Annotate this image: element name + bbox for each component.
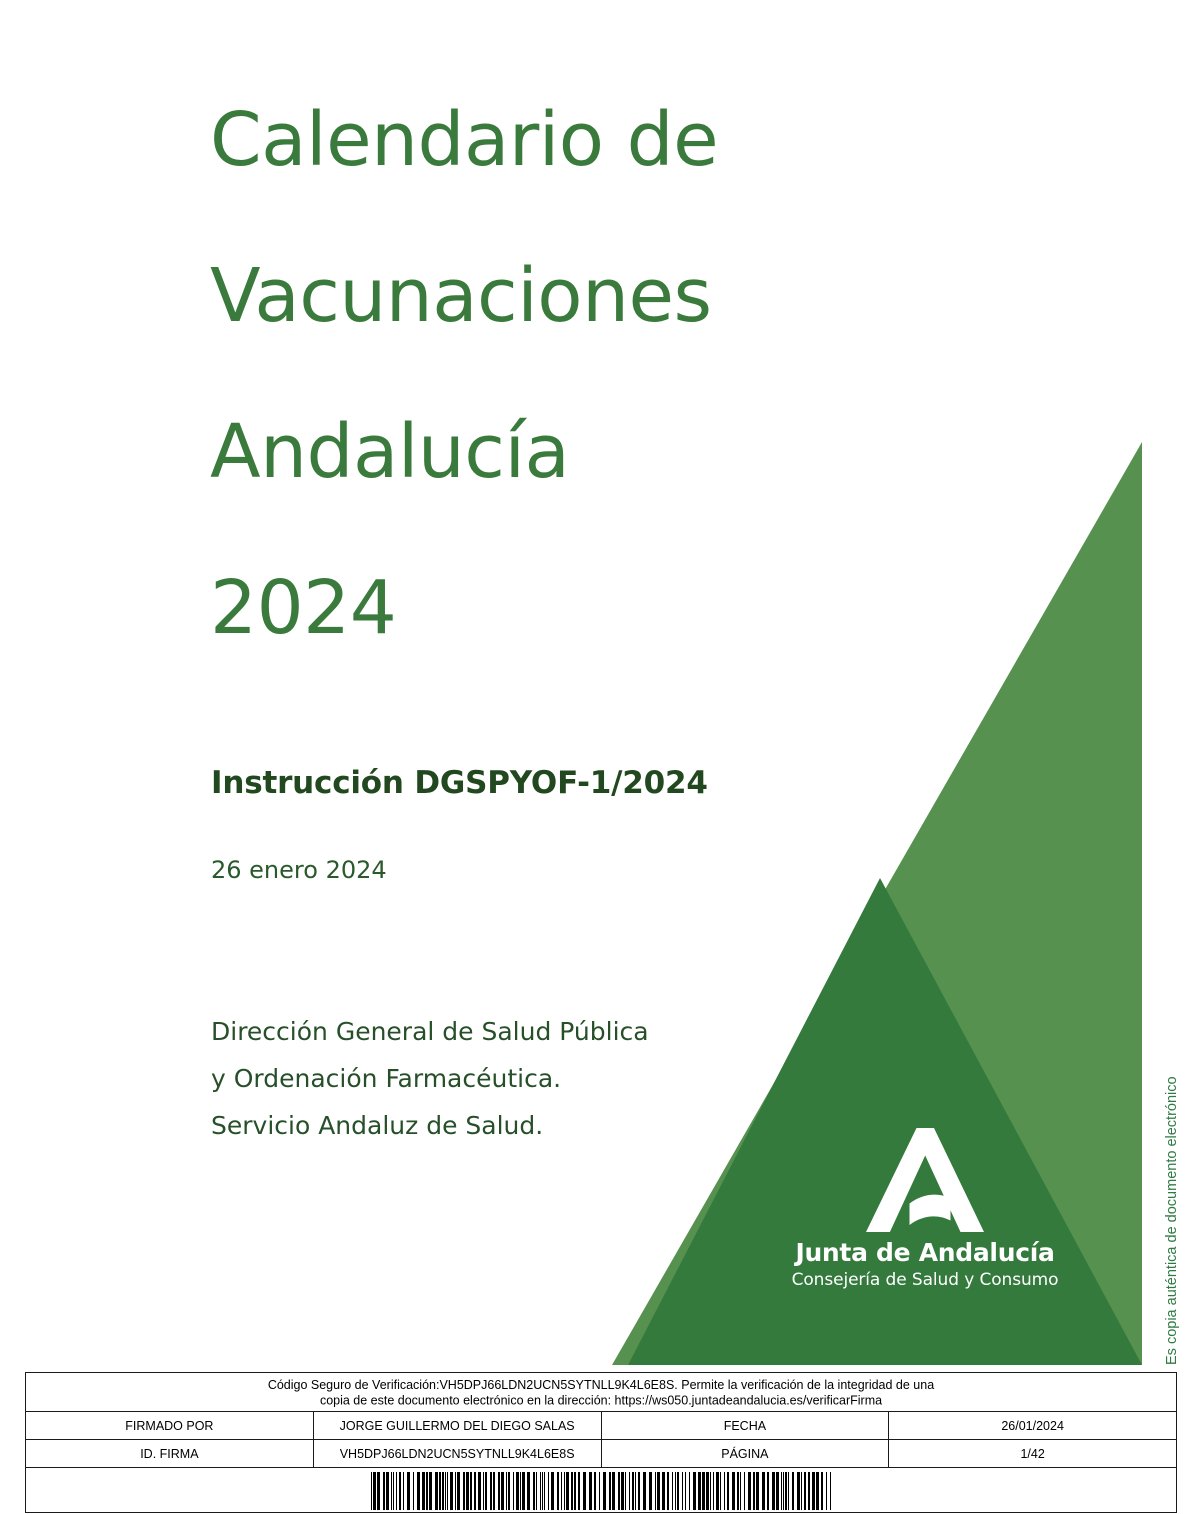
document-page: Calendario de Vacunaciones Andalucía 202…	[0, 0, 1202, 1514]
signature-id-value: VH5DPJ66LDN2UCN5SYTNLL9K4L6E8S	[313, 1439, 601, 1469]
csv-cell: Código Seguro de Verificación:VH5DPJ66LD…	[26, 1371, 1177, 1412]
brand-name: Junta de Andalucía	[780, 1238, 1070, 1268]
signed-by-label: FIRMADO POR	[26, 1411, 314, 1441]
table-row-csv: Código Seguro de Verificación:VH5DPJ66LD…	[26, 1373, 1177, 1412]
barcode-cell	[26, 1466, 1177, 1514]
title-line-4: 2024	[210, 530, 850, 686]
cover-title: Calendario de Vacunaciones Andalucía 202…	[210, 62, 850, 686]
brand-department: Consejería de Salud y Consumo	[780, 1268, 1070, 1292]
table-row-signature-id: ID. FIRMA VH5DPJ66LDN2UCN5SYTNLL9K4L6E8S…	[26, 1440, 1177, 1468]
title-line-1: Calendario de	[210, 62, 850, 218]
title-line-3: Andalucía	[210, 374, 850, 530]
page-value: 1/42	[889, 1439, 1177, 1469]
table-row-barcode	[26, 1468, 1177, 1513]
csv-line-1: Código Seguro de Verificación:VH5DPJ66LD…	[268, 1376, 934, 1391]
electronic-copy-stamp: Es copia auténtica de documento electrón…	[1161, 1035, 1185, 1365]
page-label: PÁGINA	[601, 1439, 889, 1469]
issuer-line-2: y Ordenación Farmacéutica.	[211, 1055, 771, 1102]
verification-footer-table: Código Seguro de Verificación:VH5DPJ66LD…	[25, 1372, 1177, 1513]
junta-de-andalucia-logo: Junta de Andalucía Consejería de Salud y…	[780, 1128, 1070, 1292]
signature-id-label: ID. FIRMA	[26, 1439, 314, 1469]
instruction-reference: Instrucción DGSPYOF-1/2024	[211, 765, 708, 801]
title-line-2: Vacunaciones	[210, 218, 850, 374]
junta-de-andalucia-a-icon	[866, 1128, 984, 1232]
date-label: FECHA	[601, 1411, 889, 1441]
document-date: 26 enero 2024	[211, 856, 387, 884]
issuer-line-1: Dirección General de Salud Pública	[211, 1008, 771, 1055]
electronic-copy-stamp-text: Es copia auténtica de documento electrón…	[1161, 1035, 1183, 1365]
signed-by-value: JORGE GUILLERMO DEL DIEGO SALAS	[313, 1411, 601, 1441]
verification-barcode	[371, 1471, 831, 1509]
issuing-body: Dirección General de Salud Pública y Ord…	[211, 1008, 771, 1149]
date-value: 26/01/2024	[889, 1411, 1177, 1441]
barcode-wrap	[26, 1467, 1176, 1514]
table-row-signed-by: FIRMADO POR JORGE GUILLERMO DEL DIEGO SA…	[26, 1412, 1177, 1440]
csv-line-2: copia de este documento electrónico en l…	[320, 1392, 882, 1407]
issuer-line-3: Servicio Andaluz de Salud.	[211, 1102, 771, 1149]
